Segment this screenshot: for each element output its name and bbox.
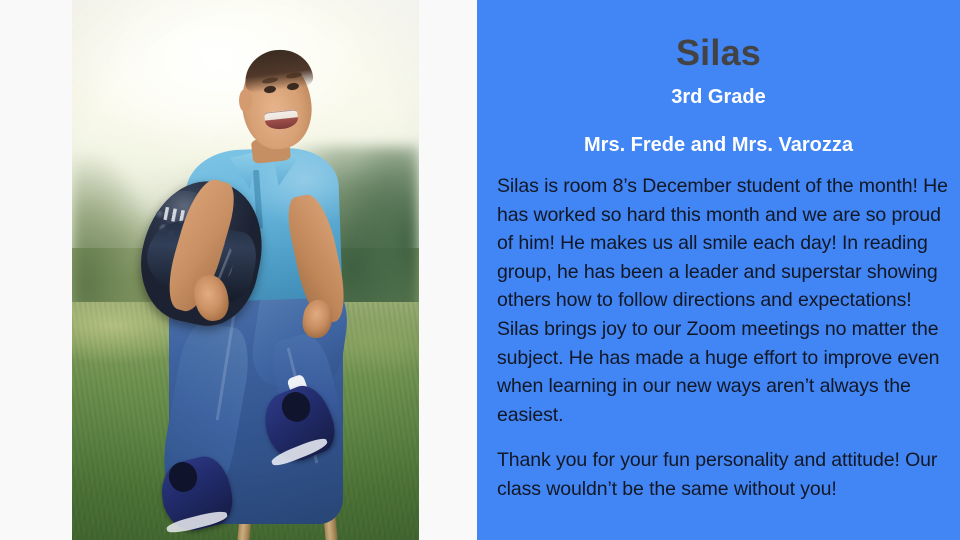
student-name-title: Silas	[477, 33, 960, 73]
student-grade-subtitle: 3rd Grade	[477, 85, 960, 109]
description-paragraph-2: Thank you for your fun personality and a…	[497, 446, 949, 503]
student-spotlight-slide: Silas 3rd Grade Mrs. Frede and Mrs. Varo…	[0, 0, 960, 540]
boy-ear	[239, 89, 251, 113]
boy-hair	[242, 46, 314, 94]
teacher-names: Mrs. Frede and Mrs. Varozza	[477, 133, 960, 157]
spotlight-text-panel: Silas 3rd Grade Mrs. Frede and Mrs. Varo…	[477, 0, 960, 540]
description-paragraph-1: Silas is room 8’s December student of th…	[497, 172, 949, 429]
boy-figure	[72, 0, 419, 540]
photo-canvas	[72, 0, 419, 540]
student-photo	[72, 0, 419, 540]
description-block: Silas is room 8’s December student of th…	[497, 172, 949, 504]
